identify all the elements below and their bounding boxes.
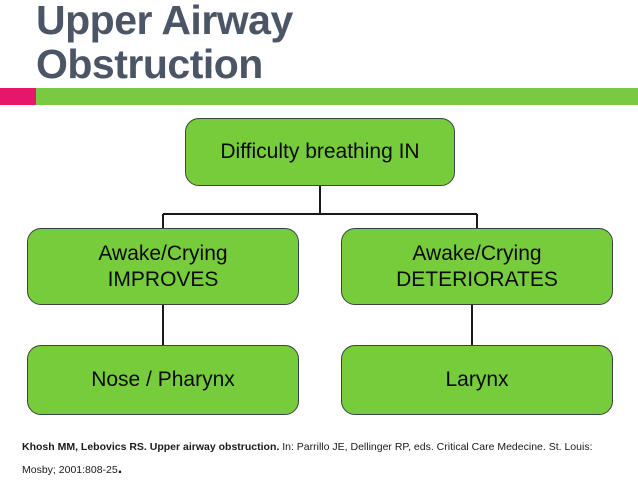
flowchart-diagram: Difficulty breathing IN Awake/Crying IMP… (0, 0, 638, 478)
flow-node-larynx[interactable]: Larynx (341, 345, 613, 415)
citation: Khosh MM, Lebovics RS. Upper airway obst… (22, 436, 622, 481)
flow-node-nose-pharynx[interactable]: Nose / Pharynx (27, 345, 299, 415)
citation-authors-title: Khosh MM, Lebovics RS. Upper airway obst… (22, 441, 279, 453)
flow-node-awake-crying-improves[interactable]: Awake/Crying IMPROVES (27, 228, 299, 305)
citation-end-dot: . (118, 460, 122, 477)
citation-publisher-pages: Mosby; 2001:808-25 (22, 464, 118, 476)
flow-node-awake-crying-deteriorates[interactable]: Awake/Crying DETERIORATES (341, 228, 613, 305)
citation-source: In: Parrillo JE, Dellinger RP, eds. Crit… (279, 441, 592, 453)
citation-line-1: Khosh MM, Lebovics RS. Upper airway obst… (22, 436, 622, 458)
flow-node-difficulty-breathing-in[interactable]: Difficulty breathing IN (185, 118, 455, 186)
